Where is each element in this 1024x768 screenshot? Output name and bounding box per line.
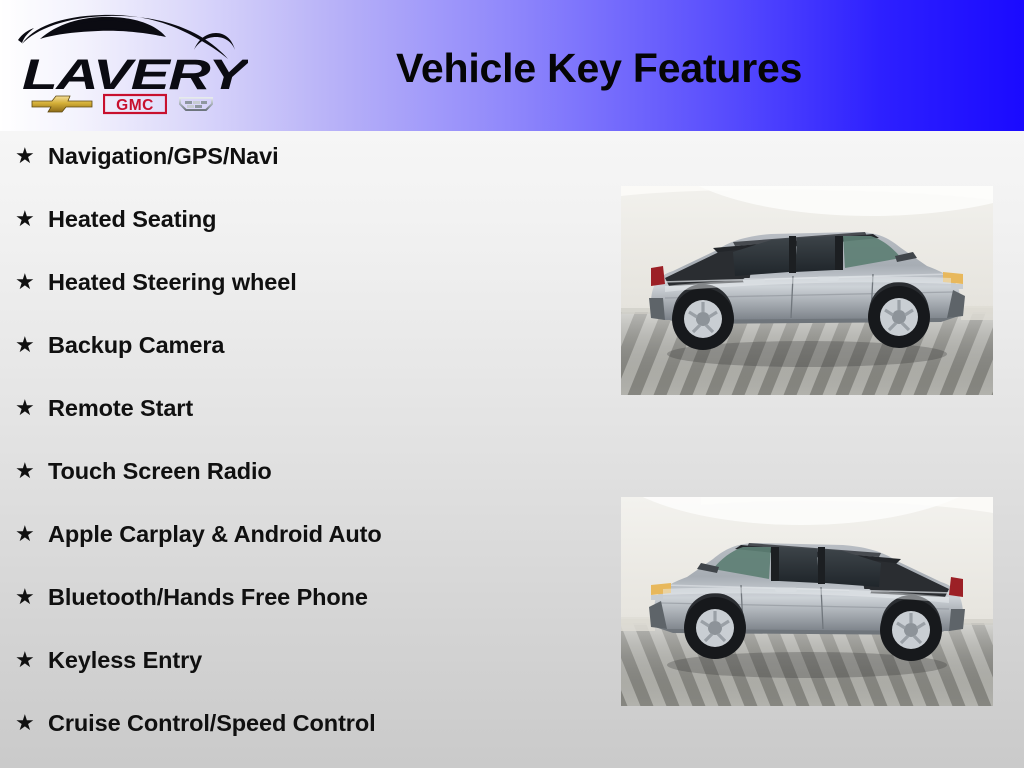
feature-label: Navigation/GPS/Navi [48, 143, 279, 169]
svg-text:GMC: GMC [116, 97, 154, 114]
brand-badges: GMC [30, 91, 236, 117]
feature-label: Touch Screen Radio [48, 458, 272, 484]
star-bullet-icon: ★ [15, 584, 48, 610]
slide-vehicle-key-features: LAVERY GMC [0, 0, 1024, 768]
feature-label: Bluetooth/Hands Free Phone [48, 584, 368, 610]
star-bullet-icon: ★ [15, 206, 48, 232]
lavery-logo: LAVERY GMC [16, 6, 248, 124]
list-item: ★ Apple Carplay & Android Auto [12, 521, 602, 584]
star-bullet-icon: ★ [15, 521, 48, 547]
gmc-logo-icon: GMC [103, 93, 167, 115]
star-bullet-icon: ★ [15, 143, 48, 169]
page-title: Vehicle Key Features [396, 40, 916, 98]
feature-label: Heated Steering wheel [48, 269, 297, 295]
feature-label: Heated Seating [48, 206, 216, 232]
star-bullet-icon: ★ [15, 269, 48, 295]
chevrolet-bowtie-icon [30, 94, 94, 114]
list-item: ★ Remote Start [12, 395, 602, 458]
vehicle-photo-driver-side [621, 497, 993, 706]
star-bullet-icon: ★ [15, 395, 48, 421]
header-band: LAVERY GMC [0, 0, 1024, 131]
feature-label: Keyless Entry [48, 647, 202, 673]
star-bullet-icon: ★ [15, 458, 48, 484]
cadillac-crest-icon [176, 93, 216, 115]
feature-label: Backup Camera [48, 332, 224, 358]
vehicle-photo-passenger-side [621, 186, 993, 395]
star-bullet-icon: ★ [15, 647, 48, 673]
list-item: ★ Heated Steering wheel [12, 269, 602, 332]
feature-list: ★ Navigation/GPS/Navi ★ Heated Seating ★… [12, 143, 602, 768]
list-item: ★ Navigation/GPS/Navi [12, 143, 602, 206]
feature-label: Remote Start [48, 395, 193, 421]
feature-label: Cruise Control/Speed Control [48, 710, 376, 736]
list-item: ★ Keyless Entry [12, 647, 602, 710]
feature-label: Apple Carplay & Android Auto [48, 521, 382, 547]
list-item: ★ Backup Camera [12, 332, 602, 395]
list-item: ★ Bluetooth/Hands Free Phone [12, 584, 602, 647]
list-item: ★ Touch Screen Radio [12, 458, 602, 521]
star-bullet-icon: ★ [15, 332, 48, 358]
list-item: ★ Heated Seating [12, 206, 602, 269]
list-item: ★ Cruise Control/Speed Control [12, 710, 602, 768]
star-bullet-icon: ★ [15, 710, 48, 736]
